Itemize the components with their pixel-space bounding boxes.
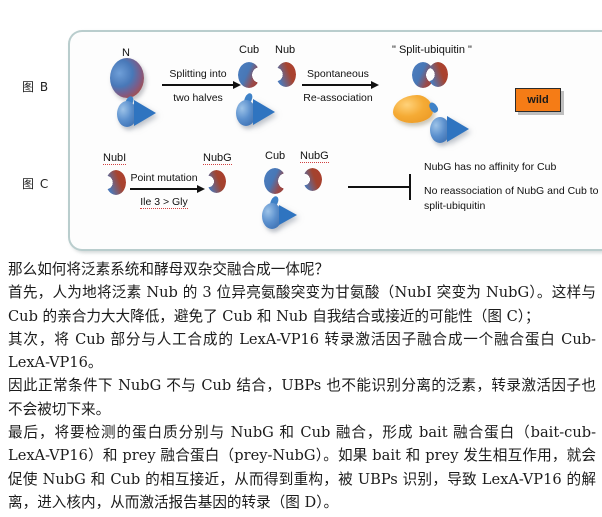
ubiquitin-molecule-icon bbox=[110, 58, 144, 98]
inhibition-bar-line bbox=[348, 186, 410, 188]
paragraph-2: 首先，人为地将泛素 Nub 的 3 位异亮氨酸突变为甘氨酸（NubI 突变为 N… bbox=[8, 281, 596, 328]
cub-fragment-icon bbox=[264, 168, 286, 194]
paragraph-5: 最后，将要检测的蛋白质分别与 NubG 和 Cub 融合，形成 bait 融合蛋… bbox=[8, 421, 596, 514]
nub-fragment-icon bbox=[428, 62, 448, 87]
nubg-label-row-c: NubG bbox=[300, 150, 329, 162]
panel-label-b: 图 B bbox=[22, 78, 49, 95]
nubg-fragment-icon bbox=[207, 170, 226, 193]
wild-badge[interactable]: wild bbox=[515, 88, 561, 112]
transcription-factor-arrow-icon bbox=[279, 205, 297, 225]
splitting-arrow-label-1: Splitting into bbox=[155, 68, 241, 80]
cub-fragment-icon bbox=[238, 62, 260, 88]
no-affinity-line-1: NubG has no affinity for Cub bbox=[424, 160, 602, 175]
no-affinity-line-2: No reassociation of NubG and Cub to spli… bbox=[424, 184, 602, 214]
point-mutation-arrow-line bbox=[130, 188, 198, 190]
reassociation-arrow-label-1: Spontaneous bbox=[296, 68, 380, 80]
splitting-arrow-label-2: two halves bbox=[155, 92, 241, 104]
paragraph-3: 其次，将 Cub 部分与人工合成的 LexA-VP16 转录激活因子融合成一个融… bbox=[8, 328, 596, 375]
nub-label-row-b: Nub bbox=[275, 44, 295, 56]
no-affinity-note: NubG has no affinity for Cub No reassoci… bbox=[424, 160, 602, 223]
nubi-label: NubI bbox=[103, 152, 126, 164]
reassociation-arrow-label-2: Re-association bbox=[296, 92, 380, 104]
inhibition-bar-cap-icon bbox=[409, 174, 411, 200]
paragraph-1: 那么如何将泛素系统和酵母双杂交融合成一体呢？ bbox=[8, 258, 596, 281]
cub-label-row-c: Cub bbox=[265, 150, 285, 162]
transcription-factor-arrow-icon bbox=[253, 99, 275, 125]
point-mutation-label-2: Ile 3 > Gly bbox=[122, 196, 206, 208]
nub-fragment-icon bbox=[276, 62, 296, 87]
cub-label-row-b: Cub bbox=[239, 44, 259, 56]
paragraph-4: 因此正常条件下 NubG 不与 Cub 结合，UBPs 也不能识别分离的泛素，转… bbox=[8, 374, 596, 421]
reassociation-arrow-head-icon bbox=[371, 81, 379, 89]
nubg-label-left: NubG bbox=[203, 152, 232, 164]
point-mutation-arrow-head-icon bbox=[197, 185, 205, 193]
split-ubiquitin-label: " Split-ubiquitin " bbox=[392, 44, 472, 56]
ubp-enzyme-icon bbox=[393, 95, 433, 123]
nubg-fragment-icon bbox=[303, 168, 322, 191]
panel-label-c: 图 C bbox=[22, 175, 49, 192]
reassociation-arrow-line bbox=[302, 84, 372, 86]
article-body: 那么如何将泛素系统和酵母双杂交融合成一体呢？ 首先，人为地将泛素 Nub 的 3… bbox=[8, 258, 596, 514]
point-mutation-label-1: Point mutation bbox=[122, 172, 206, 184]
splitting-arrow-line bbox=[162, 84, 234, 86]
transcription-factor-arrow-icon bbox=[134, 100, 156, 126]
transcription-factor-arrow-icon bbox=[447, 116, 469, 142]
